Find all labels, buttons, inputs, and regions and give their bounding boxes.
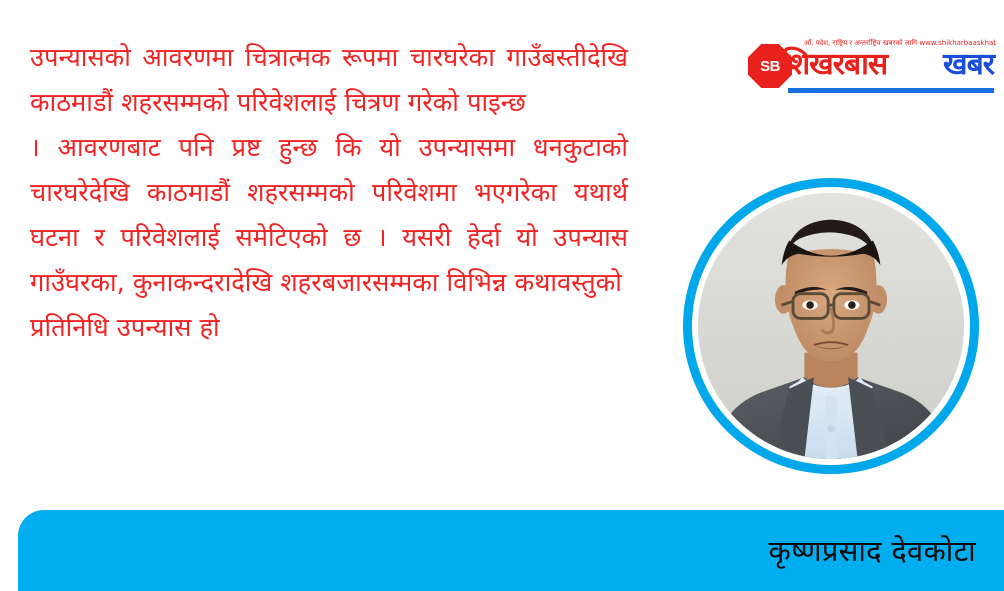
quote-paragraph: उपन्यासको आवरणमा चित्रात्मक रूपमा चारघरे… bbox=[30, 36, 628, 126]
author-portrait bbox=[683, 178, 979, 474]
quote-paragraph: । आवरणबाट पनि प्रष्ट हुन्छ कि यो उपन्यास… bbox=[30, 126, 628, 306]
quote-paragraph: प्रतिनिधि उपन्यास हो bbox=[30, 306, 628, 351]
author-photo-image bbox=[698, 193, 964, 459]
quote-card: SB आँ, पदेश, राष्ट्रिय र अन्तर्राष्ट्रिय… bbox=[0, 0, 1004, 591]
logo-word-sub: खबर bbox=[943, 48, 994, 82]
author-name: कृष्णप्रसाद देवकोटा bbox=[768, 510, 976, 591]
quote-text: उपन्यासको आवरणमा चित्रात्मक रूपमा चारघरे… bbox=[30, 36, 628, 351]
logo-underline bbox=[788, 88, 994, 93]
author-photo bbox=[698, 193, 964, 459]
sb-badge-text: SB bbox=[760, 59, 780, 74]
site-logo[interactable]: SB आँ, पदेश, राष्ट्रिय र अन्तर्राष्ट्रिय… bbox=[748, 28, 996, 90]
byline-bar: कृष्णप्रसाद देवकोटा bbox=[18, 510, 1004, 591]
logo-word-main: शिखरबास bbox=[782, 48, 887, 82]
